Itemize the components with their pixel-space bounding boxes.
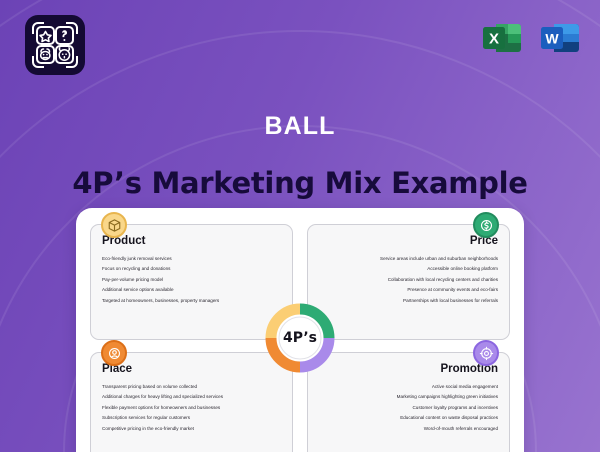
svg-text:W: W bbox=[545, 31, 559, 47]
list-item: Service areas include urban and suburban… bbox=[319, 254, 498, 264]
quadrant-title: Price bbox=[319, 235, 498, 247]
list-item: Partnerships with local businesses for r… bbox=[319, 296, 498, 306]
list-item: Pay-per-volume pricing model bbox=[102, 275, 281, 285]
list-item: Subscription services for regular custom… bbox=[102, 413, 281, 423]
brand-logo[interactable] bbox=[24, 14, 86, 76]
list-item: Customer loyalty programs and incentives bbox=[319, 403, 498, 413]
quadrant-title: Product bbox=[102, 235, 281, 247]
list-item: Additional service options available bbox=[102, 285, 281, 295]
list-item: Additional charges for heavy lifting and… bbox=[102, 392, 281, 402]
quadrant-bullets: Eco-friendly junk removal services Focus… bbox=[102, 254, 281, 306]
list-item: Presence at community events and eco-fai… bbox=[319, 285, 498, 295]
list-item: Collaboration with local recycling cente… bbox=[319, 275, 498, 285]
quadrant-title: Place bbox=[102, 363, 281, 375]
export-icon-group: X W bbox=[480, 16, 582, 60]
quadrant-promotion[interactable]: Promotion Active social media engagement… bbox=[307, 352, 510, 452]
word-icon[interactable]: W bbox=[538, 16, 582, 60]
quadrant-bullets: Active social media engagement Marketing… bbox=[319, 382, 498, 434]
pet-grid-logo-icon bbox=[24, 14, 86, 76]
list-item: Focus on recycling and donations bbox=[102, 264, 281, 274]
list-item: Accessible online booking platform bbox=[319, 264, 498, 274]
svg-text:X: X bbox=[489, 31, 499, 48]
slide-canvas: X W BALL 4P’s Marketing Mix Example bbox=[0, 0, 600, 452]
excel-icon[interactable]: X bbox=[480, 16, 524, 60]
page-title: 4P’s Marketing Mix Example bbox=[0, 166, 600, 200]
list-item: Active social media engagement bbox=[319, 382, 498, 392]
list-item: Educational content on waste disposal pr… bbox=[319, 413, 498, 423]
quadrant-price[interactable]: Price Service areas include urban and su… bbox=[307, 224, 510, 340]
list-item: Marketing campaigns highlighting green i… bbox=[319, 392, 498, 402]
target-megaphone-icon bbox=[473, 340, 499, 366]
box-package-icon bbox=[101, 212, 127, 238]
list-item: Eco-friendly junk removal services bbox=[102, 254, 281, 264]
list-item: Word-of-mouth referrals encouraged bbox=[319, 424, 498, 434]
quadrant-bullets: Transparent pricing based on volume coll… bbox=[102, 382, 281, 434]
center-donut: 4P’s bbox=[263, 301, 337, 375]
list-item: Competitive pricing in the eco-friendly … bbox=[102, 424, 281, 434]
donut-chart bbox=[263, 301, 337, 375]
quadrant-title: Promotion bbox=[319, 363, 498, 375]
list-item: Targeted at homeowners, businesses, prop… bbox=[102, 296, 281, 306]
list-item: Flexible payment options for homeowners … bbox=[102, 403, 281, 413]
list-item: Transparent pricing based on volume coll… bbox=[102, 382, 281, 392]
dollar-coin-icon bbox=[473, 212, 499, 238]
quadrant-bullets: Service areas include urban and suburban… bbox=[319, 254, 498, 306]
brand-name: BALL bbox=[0, 112, 600, 141]
location-pin-icon bbox=[101, 340, 127, 366]
marketing-mix-card: Product Eco-friendly junk removal servic… bbox=[76, 208, 524, 452]
